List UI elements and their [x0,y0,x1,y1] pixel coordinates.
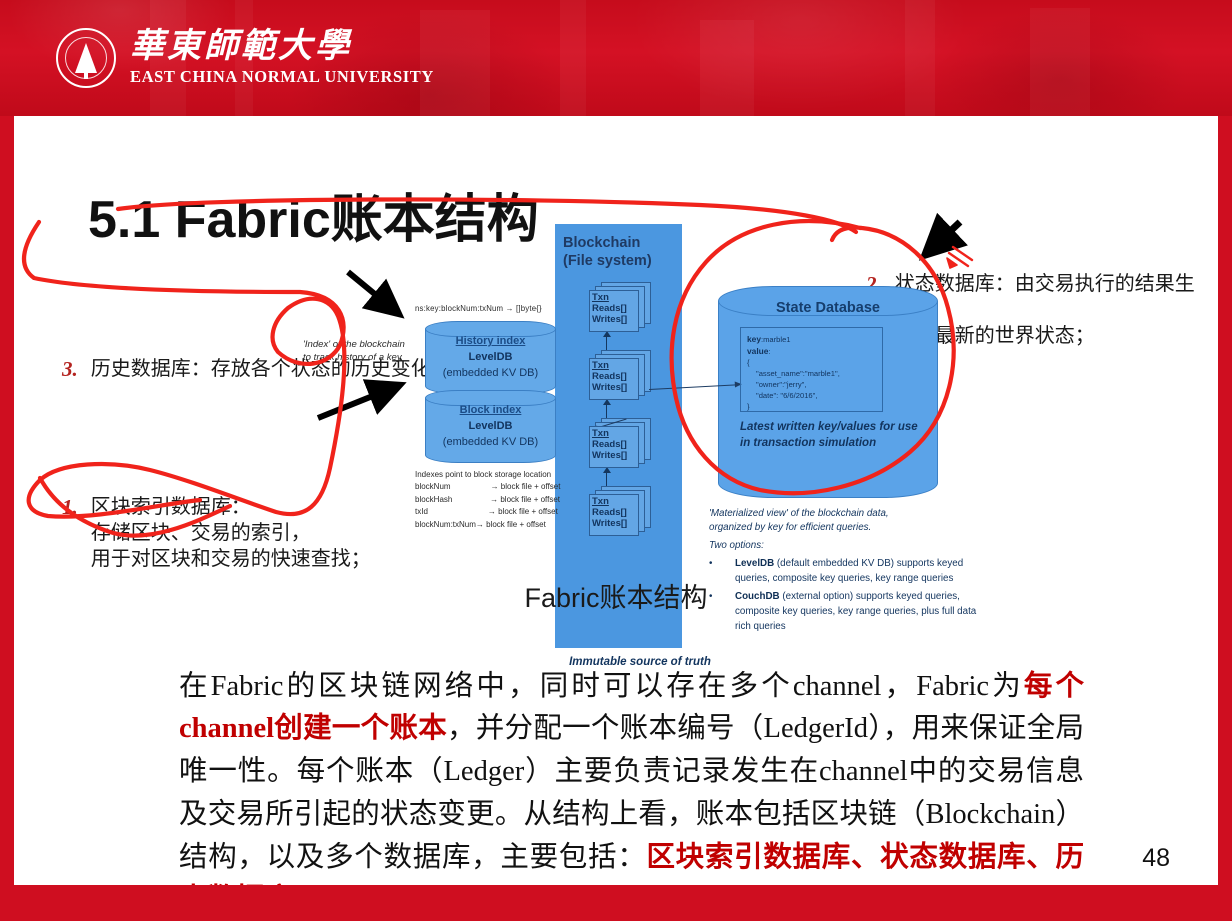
history-index-note: 'Index' of the blockchain to track histo… [303,338,428,365]
slide-page: 5.1 Fabric账本结构 3. 历史数据库：存放各个状态的历史变化记录； 1… [14,116,1218,885]
history-index-cylinder: History index LevelDB (embedded KV DB) [425,321,556,394]
txn-title: Txn [592,292,609,303]
state-db-value-label: value [747,346,768,356]
state-db-key-label: key [747,334,761,344]
json-date: "date": "6/6/2016", [747,391,817,400]
option-leveldb-name: LevelDB [735,558,774,569]
para-part-1: 在Fabric的区块链网络中，同时可以存在多个channel，Fabric为 [179,671,1024,702]
json-owner: "owner":"jerry", [747,380,806,389]
txn-reads: Reads[] [592,303,627,314]
txn-writes: Writes[] [592,382,627,393]
history-index-label: History index [456,335,526,347]
state-db-keyvalue-box: key:marble1 value: { "asset_name":"marbl… [740,327,883,412]
para-part-3: 。 [293,884,322,885]
note-number: 3. [62,356,78,382]
json-close: } [747,402,750,411]
txn-writes: Writes[] [592,518,627,529]
materialized-view-note: 'Materialized view' of the blockchain da… [709,507,977,535]
logo-chinese-name: 華東師範大學 [130,30,434,64]
page-number: 48 [1142,844,1170,873]
fabric-ledger-diagram: Blockchain (File system) Txn Reads[] Wri… [297,224,937,684]
txn-stack: Txn Reads[] Writes[] [589,486,651,536]
block-index-cylinder: Block index LevelDB (embedded KV DB) [425,390,556,463]
block-index-sub: (embedded KV DB) [443,436,538,448]
txn-title: Txn [592,428,609,439]
block-index-engine: LevelDB [468,420,512,432]
block-index-label: Block index [460,404,522,416]
txn-writes: Writes[] [592,450,627,461]
txn-reads: Reads[] [592,371,627,382]
logo-english-name: EAST CHINA NORMAL UNIVERSITY [130,69,434,86]
two-options-label: Two options: [709,540,764,551]
university-logo: 華東師範大學 EAST CHINA NORMAL UNIVERSITY [56,28,434,88]
txn-stack: Txn Reads[] Writes[] [589,350,651,400]
figure-caption: Fabric账本结构 [14,576,1218,615]
university-seal-icon [56,28,116,88]
txn-writes: Writes[] [592,314,627,325]
index-pointer-note: Indexes point to block storage location … [415,469,560,531]
history-index-engine: LevelDB [468,351,512,363]
note-number: 1. [62,494,78,520]
txn-title: Txn [592,496,609,507]
txn-stack: Txn Reads[] Writes[] [589,282,651,332]
txn-reads: Reads[] [592,439,627,450]
history-index-sub: (embedded KV DB) [443,367,538,379]
ns-key-mapping-text: ns:key:blockNum:txNum → []byte{} [415,304,542,313]
state-db-key-value: :marble1 [761,335,791,344]
header-banner: 華東師範大學 EAST CHINA NORMAL UNIVERSITY [0,0,1232,116]
json-asset-name: "asset_name":"marble1", [747,369,840,378]
body-paragraph: 在Fabric的区块链网络中，同时可以存在多个channel，Fabric为每个… [179,666,1084,886]
txn-title: Txn [592,360,609,371]
txn-reads: Reads[] [592,507,627,518]
json-open: { [747,358,750,367]
slide-root: 華東師範大學 EAST CHINA NORMAL UNIVERSITY 5.1 … [0,0,1232,921]
txn-stack: Txn Reads[] Writes[] [589,418,651,468]
blockchain-title: Blockchain (File system) [563,234,688,270]
bullet-dot-icon: • [709,557,712,572]
state-db-footer-note: Latest written key/values for use in tra… [740,420,936,451]
state-database-title: State Database [718,300,938,316]
note-text: 状态数据库：由交易执行的结果生成， 记录最新的世界状态； [895,271,1218,349]
